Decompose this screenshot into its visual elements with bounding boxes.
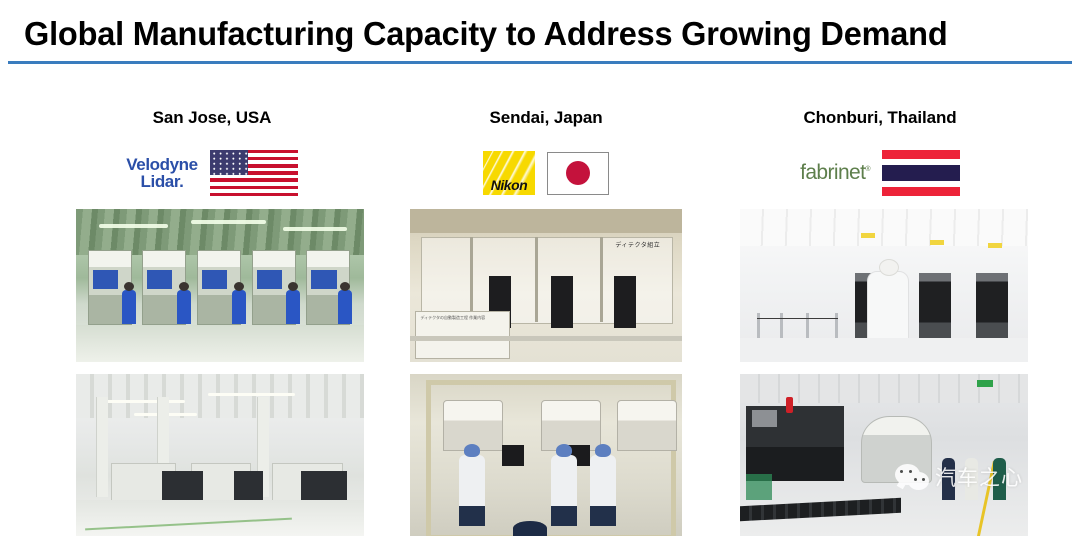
fabrinet-registered-mark: ® [865,166,870,173]
velodyne-logo-line2: Lidar. [126,173,197,190]
nikon-logo: Nikon [483,151,535,195]
photo-sendai-cleanroom [410,374,682,536]
logo-row-san-jose: Velodyne Lidar. [62,146,362,200]
column-heading-chonburi: Chonburi, Thailand [730,108,1030,128]
photo-board-text: ディテクタの自動製造工程 作業内容 [420,315,485,320]
japan-flag-disc [566,161,590,185]
thailand-flag-icon [882,150,960,196]
photo-san-jose-line [76,209,364,362]
column-heading-san-jose: San Jose, USA [62,108,362,128]
fabrinet-wordmark: fabrinet [800,161,865,184]
photo-sign-text: ディテクタ組立 [615,240,660,249]
logo-row-sendai: Nikon [396,146,696,200]
us-flag-icon [210,150,298,197]
photo-sendai-bay: ディテクタ組立 ディテクタの自動製造工程 作業内容 [410,209,682,362]
japan-flag-icon [547,152,609,195]
column-san-jose: San Jose, USA Velodyne Lidar. [62,0,362,536]
photo-chonburi-equipment [740,374,1028,536]
logo-row-chonburi: fabrinet® [730,146,1030,200]
photo-chonburi-aisle [740,209,1028,362]
column-chonburi: Chonburi, Thailand fabrinet® [730,0,1030,536]
velodyne-lidar-logo: Velodyne Lidar. [126,156,197,190]
photo-san-jose-floor [76,374,364,536]
column-heading-sendai: Sendai, Japan [396,108,696,128]
slide-root: Global Manufacturing Capacity to Address… [0,0,1080,536]
fabrinet-logo: fabrinet® [800,161,870,185]
column-sendai: Sendai, Japan Nikon ディテクタ組立 ディテクタの自動製造工程… [396,0,696,536]
nikon-wordmark: Nikon [483,177,535,193]
